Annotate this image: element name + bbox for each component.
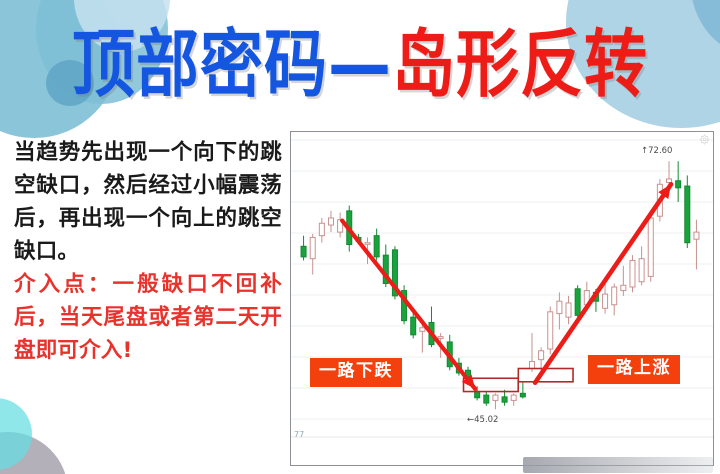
slide-root: 顶部密码—岛形反转 当趋势先出现一个向下的跳空缺口，然后经过小幅震荡后，再出现一… [0,0,720,474]
pattern-description-text: 当趋势先出现一个向下的跳空缺口，然后经过小幅震荡后，再出现一个向上的跳空缺口。 [14,136,282,268]
title-red-segment: 岛形反转 [392,22,648,107]
high-price-label: ↑72.60 [641,146,672,156]
downtrend-callout-badge: 一路下跌 [310,358,402,387]
description-column: 当趋势先出现一个向下的跳空缺口，然后经过小幅震荡后，再出现一个向上的跳空缺口。 … [14,136,282,367]
decorative-circle-bottom-left-gray [0,432,68,474]
page-title: 顶部密码—岛形反转 [72,27,648,100]
chart-plot-area: ↑72.60 ←45.02 一路下跌 一路上涨 77 [291,132,713,465]
low-price-label: ←45.02 [467,415,498,425]
title-blue-segment: 顶部密码— [72,22,392,107]
uptrend-callout-badge: 一路上涨 [588,355,680,384]
axis-tick-label: 77 [294,430,304,439]
candlestick-chart-panel[interactable]: ↑72.60 ←45.02 一路下跌 一路上涨 77 [290,131,714,466]
slide-title-bar: 顶部密码—岛形反转 [0,16,720,112]
resize-handle-icon[interactable] [699,134,710,145]
decorative-circle-bottom-left-cyan [0,398,32,470]
entry-point-text: 介入点：一般缺口不回补后，当天尾盘或者第二天开盘即可介入! [14,268,282,367]
candlestick-chart-svg [291,132,713,465]
horizontal-scrollbar[interactable] [523,457,713,473]
